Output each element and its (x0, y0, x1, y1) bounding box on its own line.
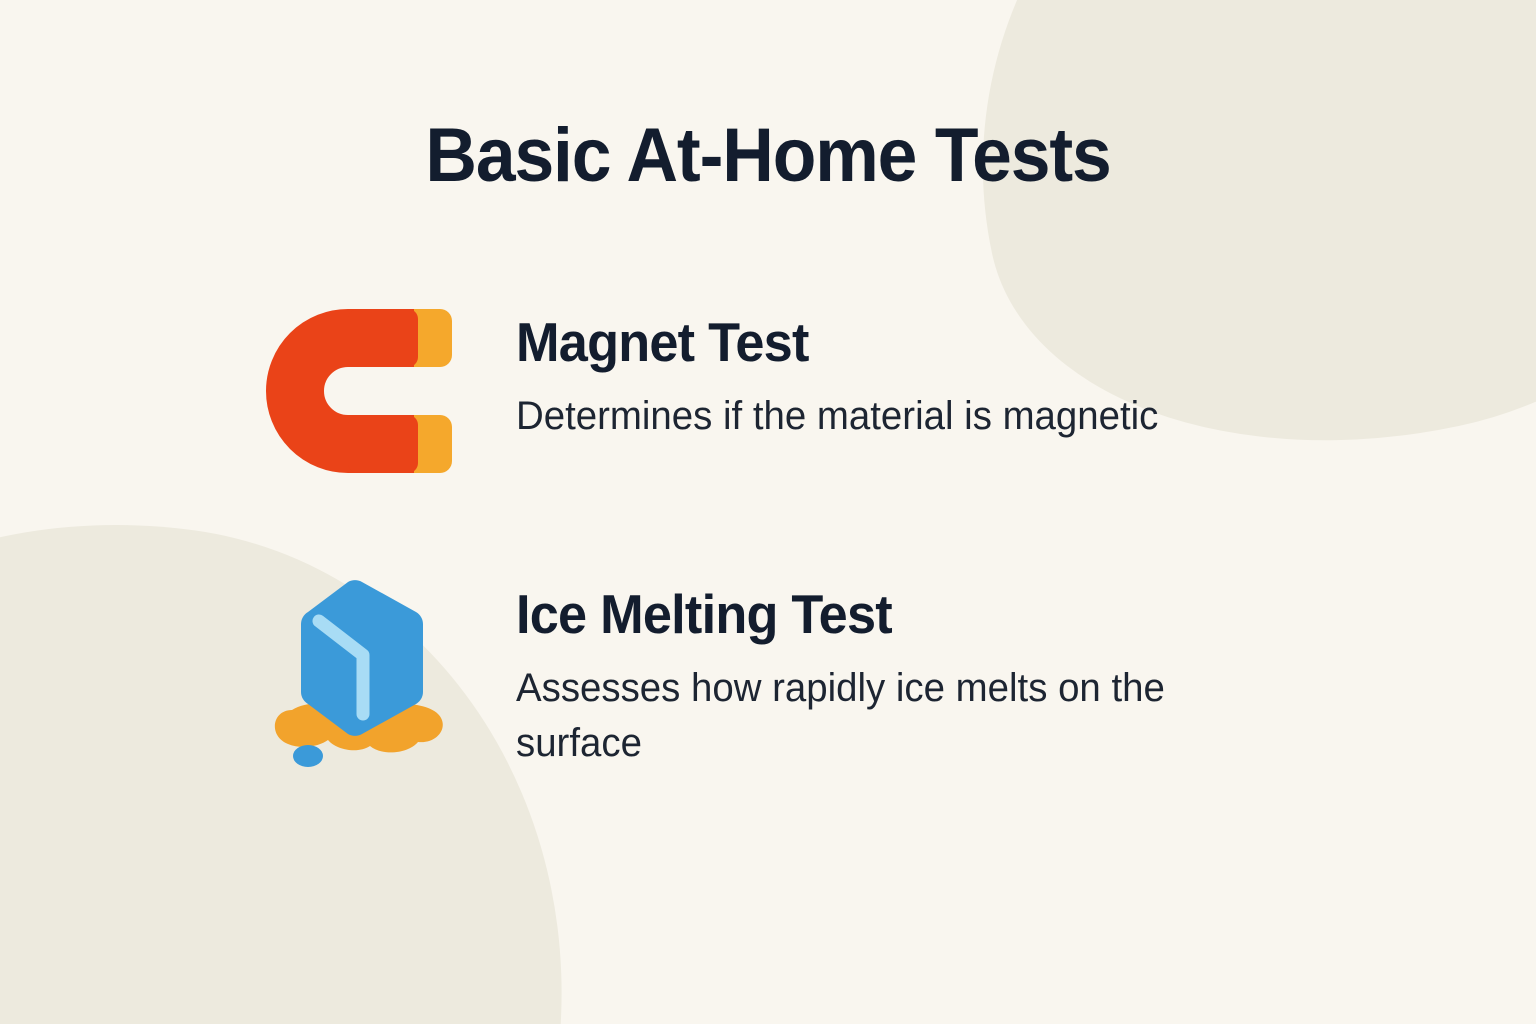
item-text-block: Ice Melting Test Assesses how rapidly ic… (516, 568, 1442, 771)
test-list: Magnet Test Determines if the material i… (262, 296, 1442, 771)
ice-cube-melting-icon (262, 568, 462, 768)
item-description: Determines if the material is magnetic (516, 389, 1284, 444)
item-title: Ice Melting Test (516, 586, 1396, 644)
slide-content: Basic At-Home Tests (0, 0, 1536, 1024)
list-item: Magnet Test Determines if the material i… (262, 296, 1442, 486)
item-description: Assesses how rapidly ice melts on the su… (516, 661, 1284, 771)
magnet-icon (262, 296, 462, 486)
list-item: Ice Melting Test Assesses how rapidly ic… (262, 568, 1442, 771)
item-title: Magnet Test (516, 314, 1396, 372)
item-text-block: Magnet Test Determines if the material i… (516, 296, 1442, 444)
page-title: Basic At-Home Tests (46, 118, 1490, 194)
slide-root: Basic At-Home Tests (0, 0, 1536, 1024)
